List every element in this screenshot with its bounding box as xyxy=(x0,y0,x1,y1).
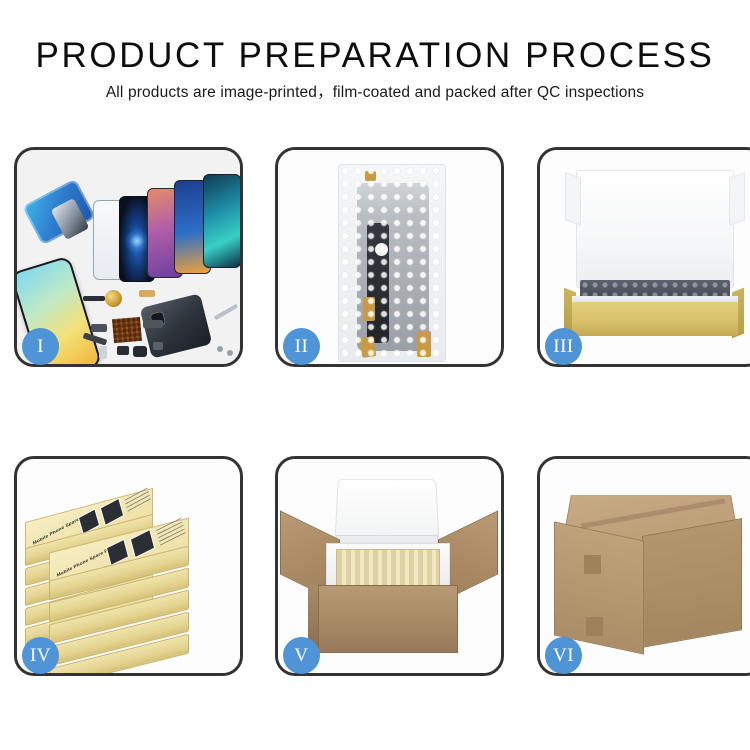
spare-part xyxy=(139,290,155,297)
gold-contact-tab xyxy=(417,331,431,357)
spare-part xyxy=(143,320,163,328)
spare-part xyxy=(83,296,105,301)
screw-part xyxy=(227,350,233,356)
spare-part xyxy=(153,342,163,350)
page-subtitle: All products are image-printed，film-coat… xyxy=(0,83,750,103)
yellow-box-front xyxy=(572,302,738,336)
gold-contact-tab xyxy=(365,171,376,181)
phone-screen-teal xyxy=(203,174,240,268)
step-badge-1: I xyxy=(22,328,59,365)
product-preparation-process-page: PRODUCT PREPARATION PROCESS All products… xyxy=(0,0,750,750)
carton-tape-patch xyxy=(584,555,601,574)
flex-cable xyxy=(367,223,389,343)
gold-contact-tab xyxy=(360,336,377,358)
process-step-grid: Mobile Phone Spare Parts Mobile Phone Sp… xyxy=(14,147,748,676)
carton-right-face xyxy=(642,518,742,648)
spare-part xyxy=(99,346,107,359)
spare-part xyxy=(133,346,147,357)
spare-part xyxy=(91,324,107,332)
step-badge-6: VI xyxy=(545,637,582,674)
step-badge-3: III xyxy=(545,328,582,365)
screw-part xyxy=(217,346,223,352)
carton-tape-patch xyxy=(586,617,603,636)
step-badge-5: V xyxy=(283,637,320,674)
chip-array-part xyxy=(112,317,142,343)
page-title: PRODUCT PREPARATION PROCESS xyxy=(0,36,750,76)
spare-part xyxy=(117,346,129,355)
foam-lid xyxy=(576,170,734,288)
header: PRODUCT PREPARATION PROCESS All products… xyxy=(0,36,750,103)
gold-contact-tab xyxy=(363,297,375,321)
gold-coil-part xyxy=(105,290,122,307)
connector-dot xyxy=(375,243,388,256)
step-badge-2: II xyxy=(283,328,320,365)
bubble-wrap-bag xyxy=(338,164,446,362)
carton-body xyxy=(318,585,458,653)
step-badge-4: IV xyxy=(22,637,59,674)
